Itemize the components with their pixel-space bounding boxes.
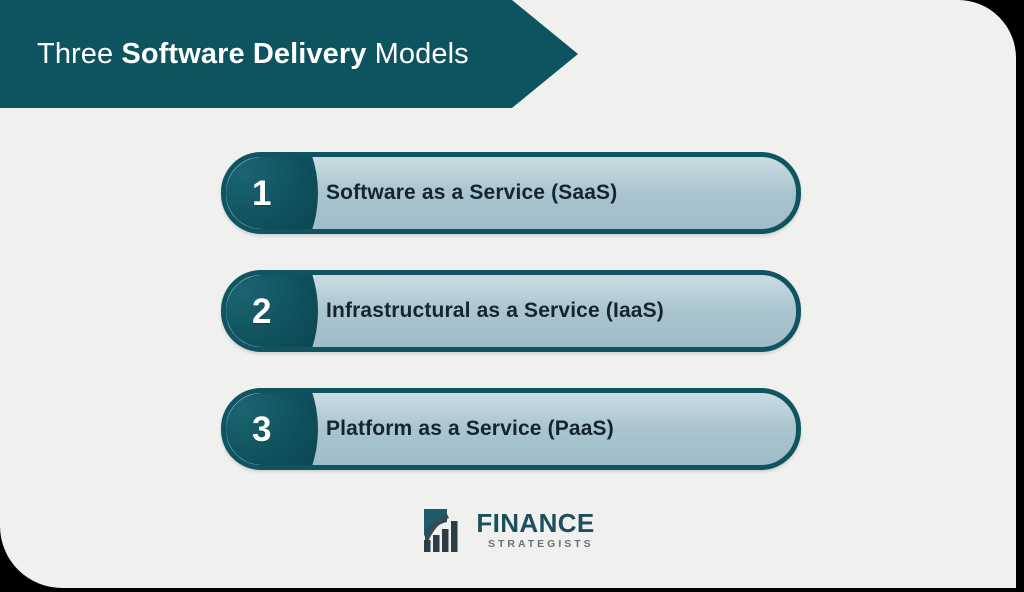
title-banner: Three Software Delivery Models [0, 0, 578, 108]
list-item: 3 Platform as a Service (PaaS) [0, 388, 1016, 466]
page-title-emphasis: Software Delivery [121, 38, 366, 70]
model-number-badge-3: 3 [226, 393, 318, 465]
finance-strategists-bar-chart-icon [421, 506, 467, 554]
model-number-2: 2 [226, 294, 271, 329]
page-title: Three Software Delivery Models [0, 40, 469, 69]
page-title-prefix: Three [37, 38, 121, 70]
model-number-badge-2: 2 [226, 275, 318, 347]
logo-subtext: STRATEGISTS [476, 539, 594, 550]
model-label-3: Platform as a Service (PaaS) [326, 393, 614, 465]
logo-wordmark: FINANCE [476, 510, 594, 536]
model-label-1: Software as a Service (SaaS) [326, 157, 617, 229]
model-number-1: 1 [226, 176, 271, 211]
model-pill-3[interactable]: 3 Platform as a Service (PaaS) [221, 388, 801, 470]
page-title-suffix: Models [367, 38, 469, 70]
infographic-card: Three Software Delivery Models 1 Softwar… [0, 0, 1016, 588]
model-number-badge-1: 1 [226, 157, 318, 229]
model-label-2: Infrastructural as a Service (IaaS) [326, 275, 664, 347]
brand-logo: FINANCE STRATEGISTS [0, 506, 1016, 554]
infographic-stage: Three Software Delivery Models 1 Softwar… [0, 0, 1024, 592]
list-item: 2 Infrastructural as a Service (IaaS) [0, 270, 1016, 348]
model-pill-2[interactable]: 2 Infrastructural as a Service (IaaS) [221, 270, 801, 352]
model-list: 1 Software as a Service (SaaS) 2 Infrast… [0, 152, 1016, 506]
model-pill-1[interactable]: 1 Software as a Service (SaaS) [221, 152, 801, 234]
logo-wordmark-group: FINANCE STRATEGISTS [476, 510, 594, 550]
model-number-3: 3 [226, 412, 271, 447]
list-item: 1 Software as a Service (SaaS) [0, 152, 1016, 230]
